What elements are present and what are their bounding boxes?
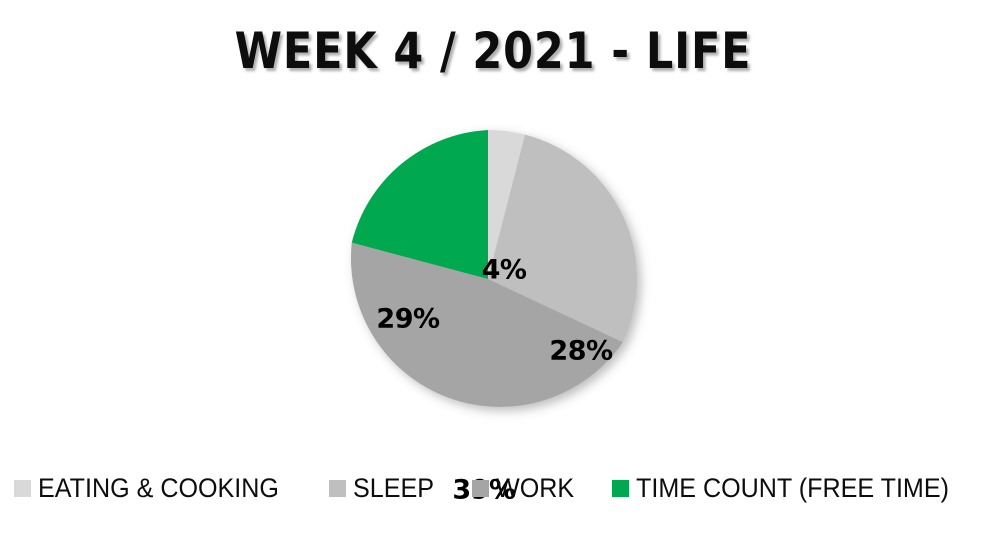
legend-swatch-icon-eating-and-cooking <box>14 480 31 497</box>
legend-item-sleep[interactable]: SLEEP <box>329 475 440 502</box>
data-label-eating-and-cooking: 4% <box>482 255 527 286</box>
legend-swatch-icon-time-count-free-time <box>612 480 629 497</box>
legend-item-work[interactable]: WORK <box>472 475 580 502</box>
chart-title: WEEK 4 / 2021 - LIFE <box>69 22 917 80</box>
plot-area: 4% 28% 39% 29% <box>0 110 986 450</box>
legend-label-eating-and-cooking: EATING & COOKING <box>38 475 279 502</box>
data-label-sleep: 28% <box>549 336 612 367</box>
legend-swatch-icon-sleep <box>329 480 346 497</box>
legend-label-work: WORK <box>496 475 574 502</box>
legend-item-eating-and-cooking[interactable]: EATING & COOKING <box>14 475 297 502</box>
legend-swatch-icon-work <box>472 480 489 497</box>
legend-label-time-count-free-time: TIME COUNT (FREE TIME) <box>636 475 949 502</box>
chart-legend: EATING & COOKING SLEEP WORK TIME COUNT (… <box>0 471 986 505</box>
pie-chart-container: WEEK 4 / 2021 - LIFE 4% 28% 39% <box>0 0 986 536</box>
legend-item-time-count-free-time[interactable]: TIME COUNT (FREE TIME) <box>612 475 973 502</box>
data-label-time-count-free-time: 29% <box>376 304 439 335</box>
legend-label-sleep: SLEEP <box>353 475 434 502</box>
